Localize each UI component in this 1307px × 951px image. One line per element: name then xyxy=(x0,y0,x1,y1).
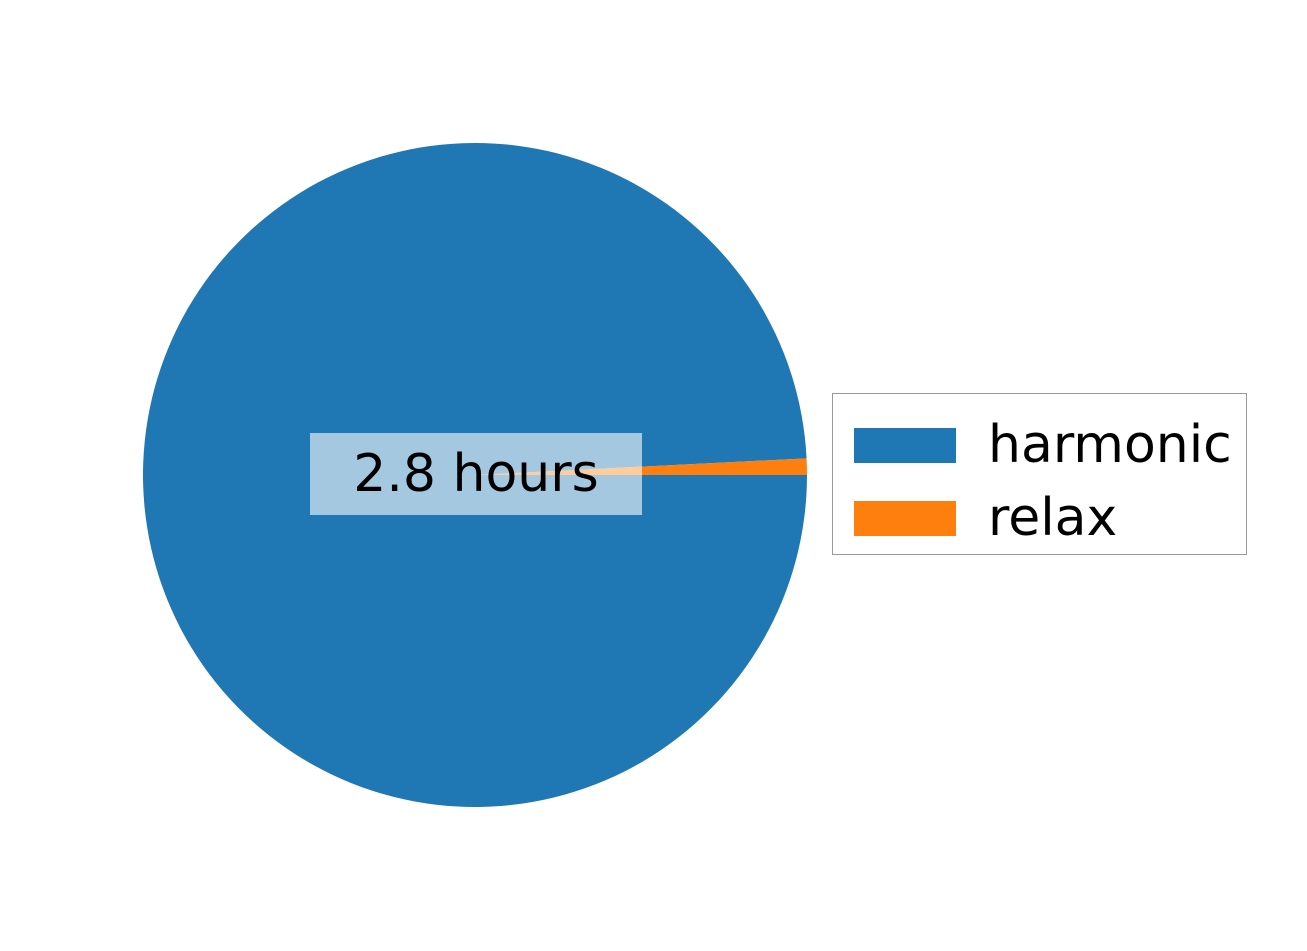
legend-swatch-harmonic xyxy=(854,428,956,463)
legend-item-relax[interactable]: relax xyxy=(854,492,1117,544)
pie-slice-label-harmonic: 2.8 hours xyxy=(310,433,642,515)
figure-canvas: 2.8 hours harmonic relax xyxy=(0,0,1307,951)
legend-item-harmonic[interactable]: harmonic xyxy=(854,419,1232,471)
legend-label-relax: relax xyxy=(988,492,1117,544)
legend: harmonic relax xyxy=(832,393,1247,555)
legend-swatch-relax xyxy=(854,501,956,536)
legend-label-harmonic: harmonic xyxy=(988,419,1232,471)
